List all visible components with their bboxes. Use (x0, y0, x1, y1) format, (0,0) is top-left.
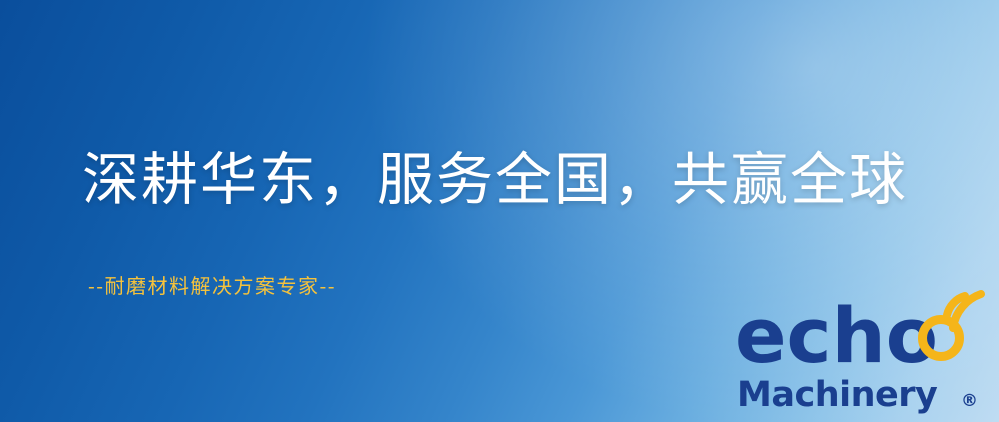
logo-wordmark-text: echo (735, 291, 938, 380)
wifi-signal-icon (947, 294, 981, 328)
hero-banner: 深耕华东，服务全国，共赢全球 --耐磨材料解决方案专家-- echo Machi… (0, 0, 999, 422)
banner-subline: --耐磨材料解决方案专家-- (88, 270, 336, 299)
banner-headline: 深耕华东，服务全国，共赢全球 (82, 148, 908, 214)
echo-machinery-logo: echo Machinery ® (733, 288, 989, 420)
logo-trademark-symbol: ® (961, 391, 978, 411)
logo-tagline-text: Machinery (737, 375, 938, 415)
